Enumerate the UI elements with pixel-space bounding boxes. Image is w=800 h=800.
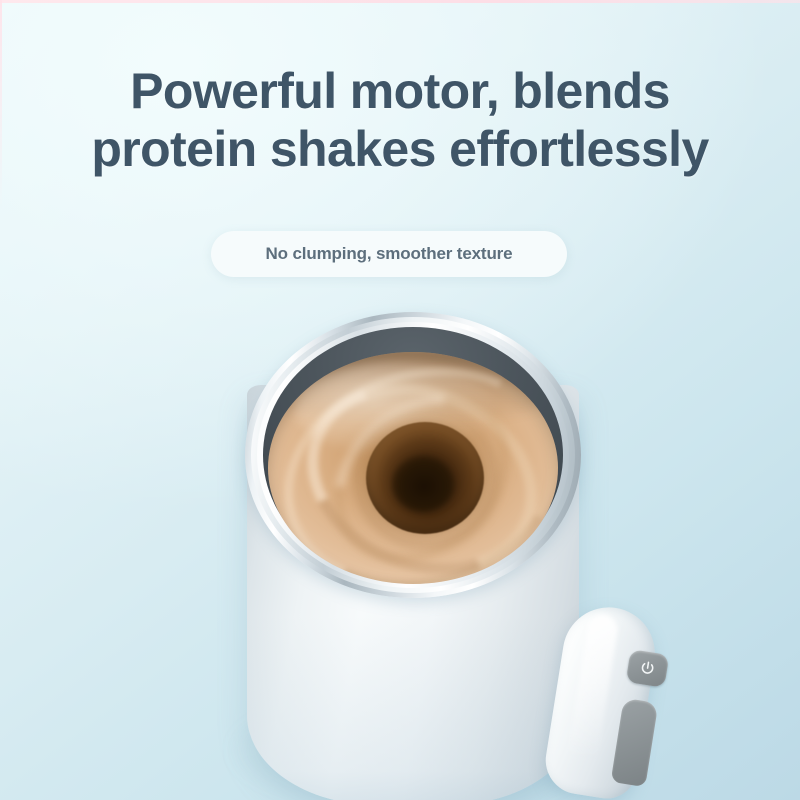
headline-line-1: Powerful motor, blends [0,62,800,120]
product-banner: Powerful motor, blends protein shakes ef… [0,0,800,800]
subtitle-badge: No clumping, smoother texture [211,231,567,277]
top-edge-hairline [0,0,800,3]
left-edge-hairline [0,0,2,210]
vortex-center [392,456,454,512]
protein-shake-liquid [268,352,558,584]
power-button[interactable] [626,649,670,688]
headline-line-2: protein shakes effortlessly [0,120,800,178]
page-title: Powerful motor, blends protein shakes ef… [0,62,800,178]
subtitle-badge-label: No clumping, smoother texture [266,244,513,264]
power-icon [638,659,657,678]
